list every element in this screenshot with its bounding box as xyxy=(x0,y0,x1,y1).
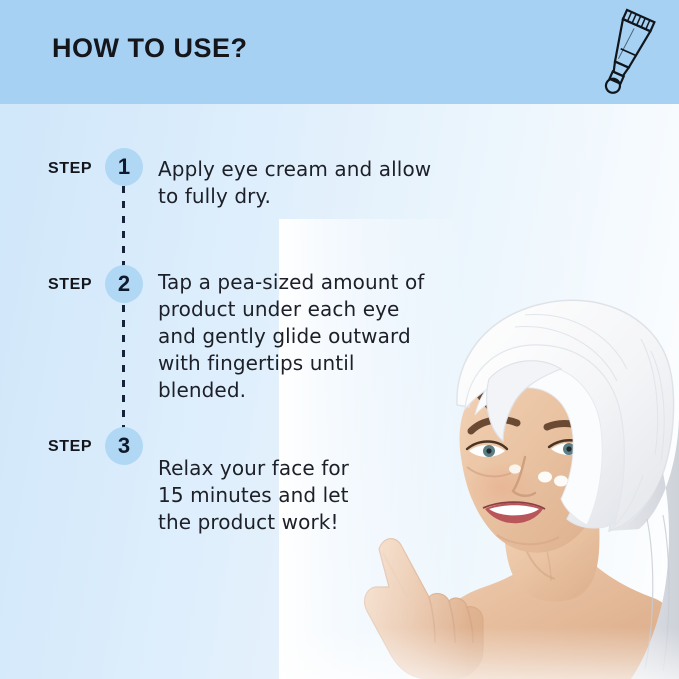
step-number-3: 3 xyxy=(118,435,130,457)
how-to-use-infographic: HOW TO USE? xyxy=(0,0,679,679)
step-number-2: 2 xyxy=(118,273,130,295)
step-number-badge-2: 2 xyxy=(105,265,143,303)
step-number-badge-1: 1 xyxy=(105,148,143,186)
step-number-badge-3: 3 xyxy=(105,427,143,465)
step-connector-2 xyxy=(122,305,125,428)
step-label-1: STEP xyxy=(48,160,92,178)
steps-list: STEP 1 Apply eye cream and allow to full… xyxy=(0,0,679,679)
step-text-1: Apply eye cream and allow to fully dry. xyxy=(158,156,431,210)
step-text-3: Relax your face for 15 minutes and let t… xyxy=(158,455,349,536)
step-number-1: 1 xyxy=(118,156,130,178)
step-text-2: Tap a pea-sized amount of product under … xyxy=(158,269,424,404)
step-label-3: STEP xyxy=(48,438,92,456)
step-label-2: STEP xyxy=(48,276,92,294)
step-connector-1 xyxy=(122,186,125,266)
